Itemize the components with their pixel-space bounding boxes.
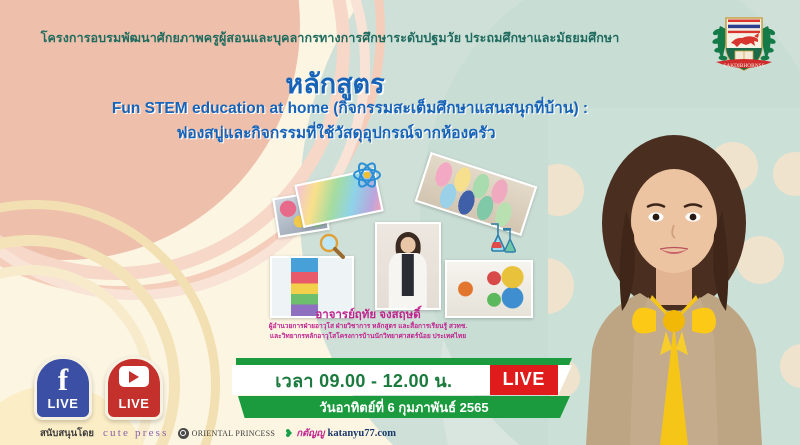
schedule-top-accent	[236, 358, 572, 366]
speaker-portrait-photo	[375, 222, 441, 310]
time-bar: เวลา 09.00 - 12.00 น. LIVE	[232, 365, 572, 395]
supported-by-label: สนับสนุนโดย	[40, 426, 94, 441]
oriental-princess-mark-icon	[178, 428, 189, 439]
katanyu-url: katanyu77.com	[328, 428, 397, 439]
live-status-badge: LIVE	[490, 365, 558, 395]
magnifier-icon	[318, 232, 346, 260]
program-header-text: โครงการอบรมพัฒนาศักยภาพครูผู้สอนและบุคลา…	[0, 28, 660, 48]
sponsor-row: สนับสนุนโดย cute press ORIENTAL PRINCESS…	[40, 424, 396, 442]
time-text: เวลา 09.00 - 12.00 น.	[232, 366, 490, 395]
date-bar: วันอาทิตย์ที่ 6 กุมภาพันธ์ 2565	[238, 396, 570, 418]
presenter-photo	[556, 115, 792, 445]
webinar-poster: โครงการอบรมพัฒนาศักยภาพครูผู้สอนและบุคลา…	[0, 0, 800, 445]
facebook-live-badge[interactable]: f LIVE	[34, 356, 92, 420]
course-title-line1: Fun STEM education at home (กิจกรรมสะเต็…	[0, 95, 700, 120]
katanyu-thai-name: กตัญญู	[296, 426, 324, 441]
flask-icon	[482, 220, 516, 254]
speaker-credential-2: และวิทยากรหลักอาวุโสโครงการบ้านนักวิทยาศ…	[200, 330, 536, 341]
oriental-princess-logo: ORIENTAL PRINCESS	[178, 428, 276, 439]
activity-collage	[270, 160, 550, 320]
facebook-icon: f	[58, 366, 68, 394]
youtube-live-badge[interactable]: LIVE	[105, 356, 163, 420]
katanyu-leaf-icon: ❥	[284, 427, 293, 440]
cute-press-logo: cute press	[103, 427, 169, 439]
katanyu-logo: ❥ กตัญญู katanyu77.com	[284, 426, 396, 441]
school-crest-icon: SAKDIBHORNSS	[708, 6, 780, 78]
oriental-princess-label: ORIENTAL PRINCESS	[192, 429, 276, 438]
youtube-live-label: LIVE	[119, 396, 150, 411]
course-title-line2: ฟองสบู่และกิจกรรมที่ใช้วัสดุอุปกรณ์จากห้…	[0, 120, 672, 145]
facebook-live-label: LIVE	[48, 396, 79, 411]
crest-banner-text: SAKDIBHORNSS	[723, 63, 764, 69]
atom-icon	[352, 160, 382, 190]
date-text: วันอาทิตย์ที่ 6 กุมภาพันธ์ 2565	[319, 397, 488, 418]
youtube-icon	[119, 366, 149, 387]
